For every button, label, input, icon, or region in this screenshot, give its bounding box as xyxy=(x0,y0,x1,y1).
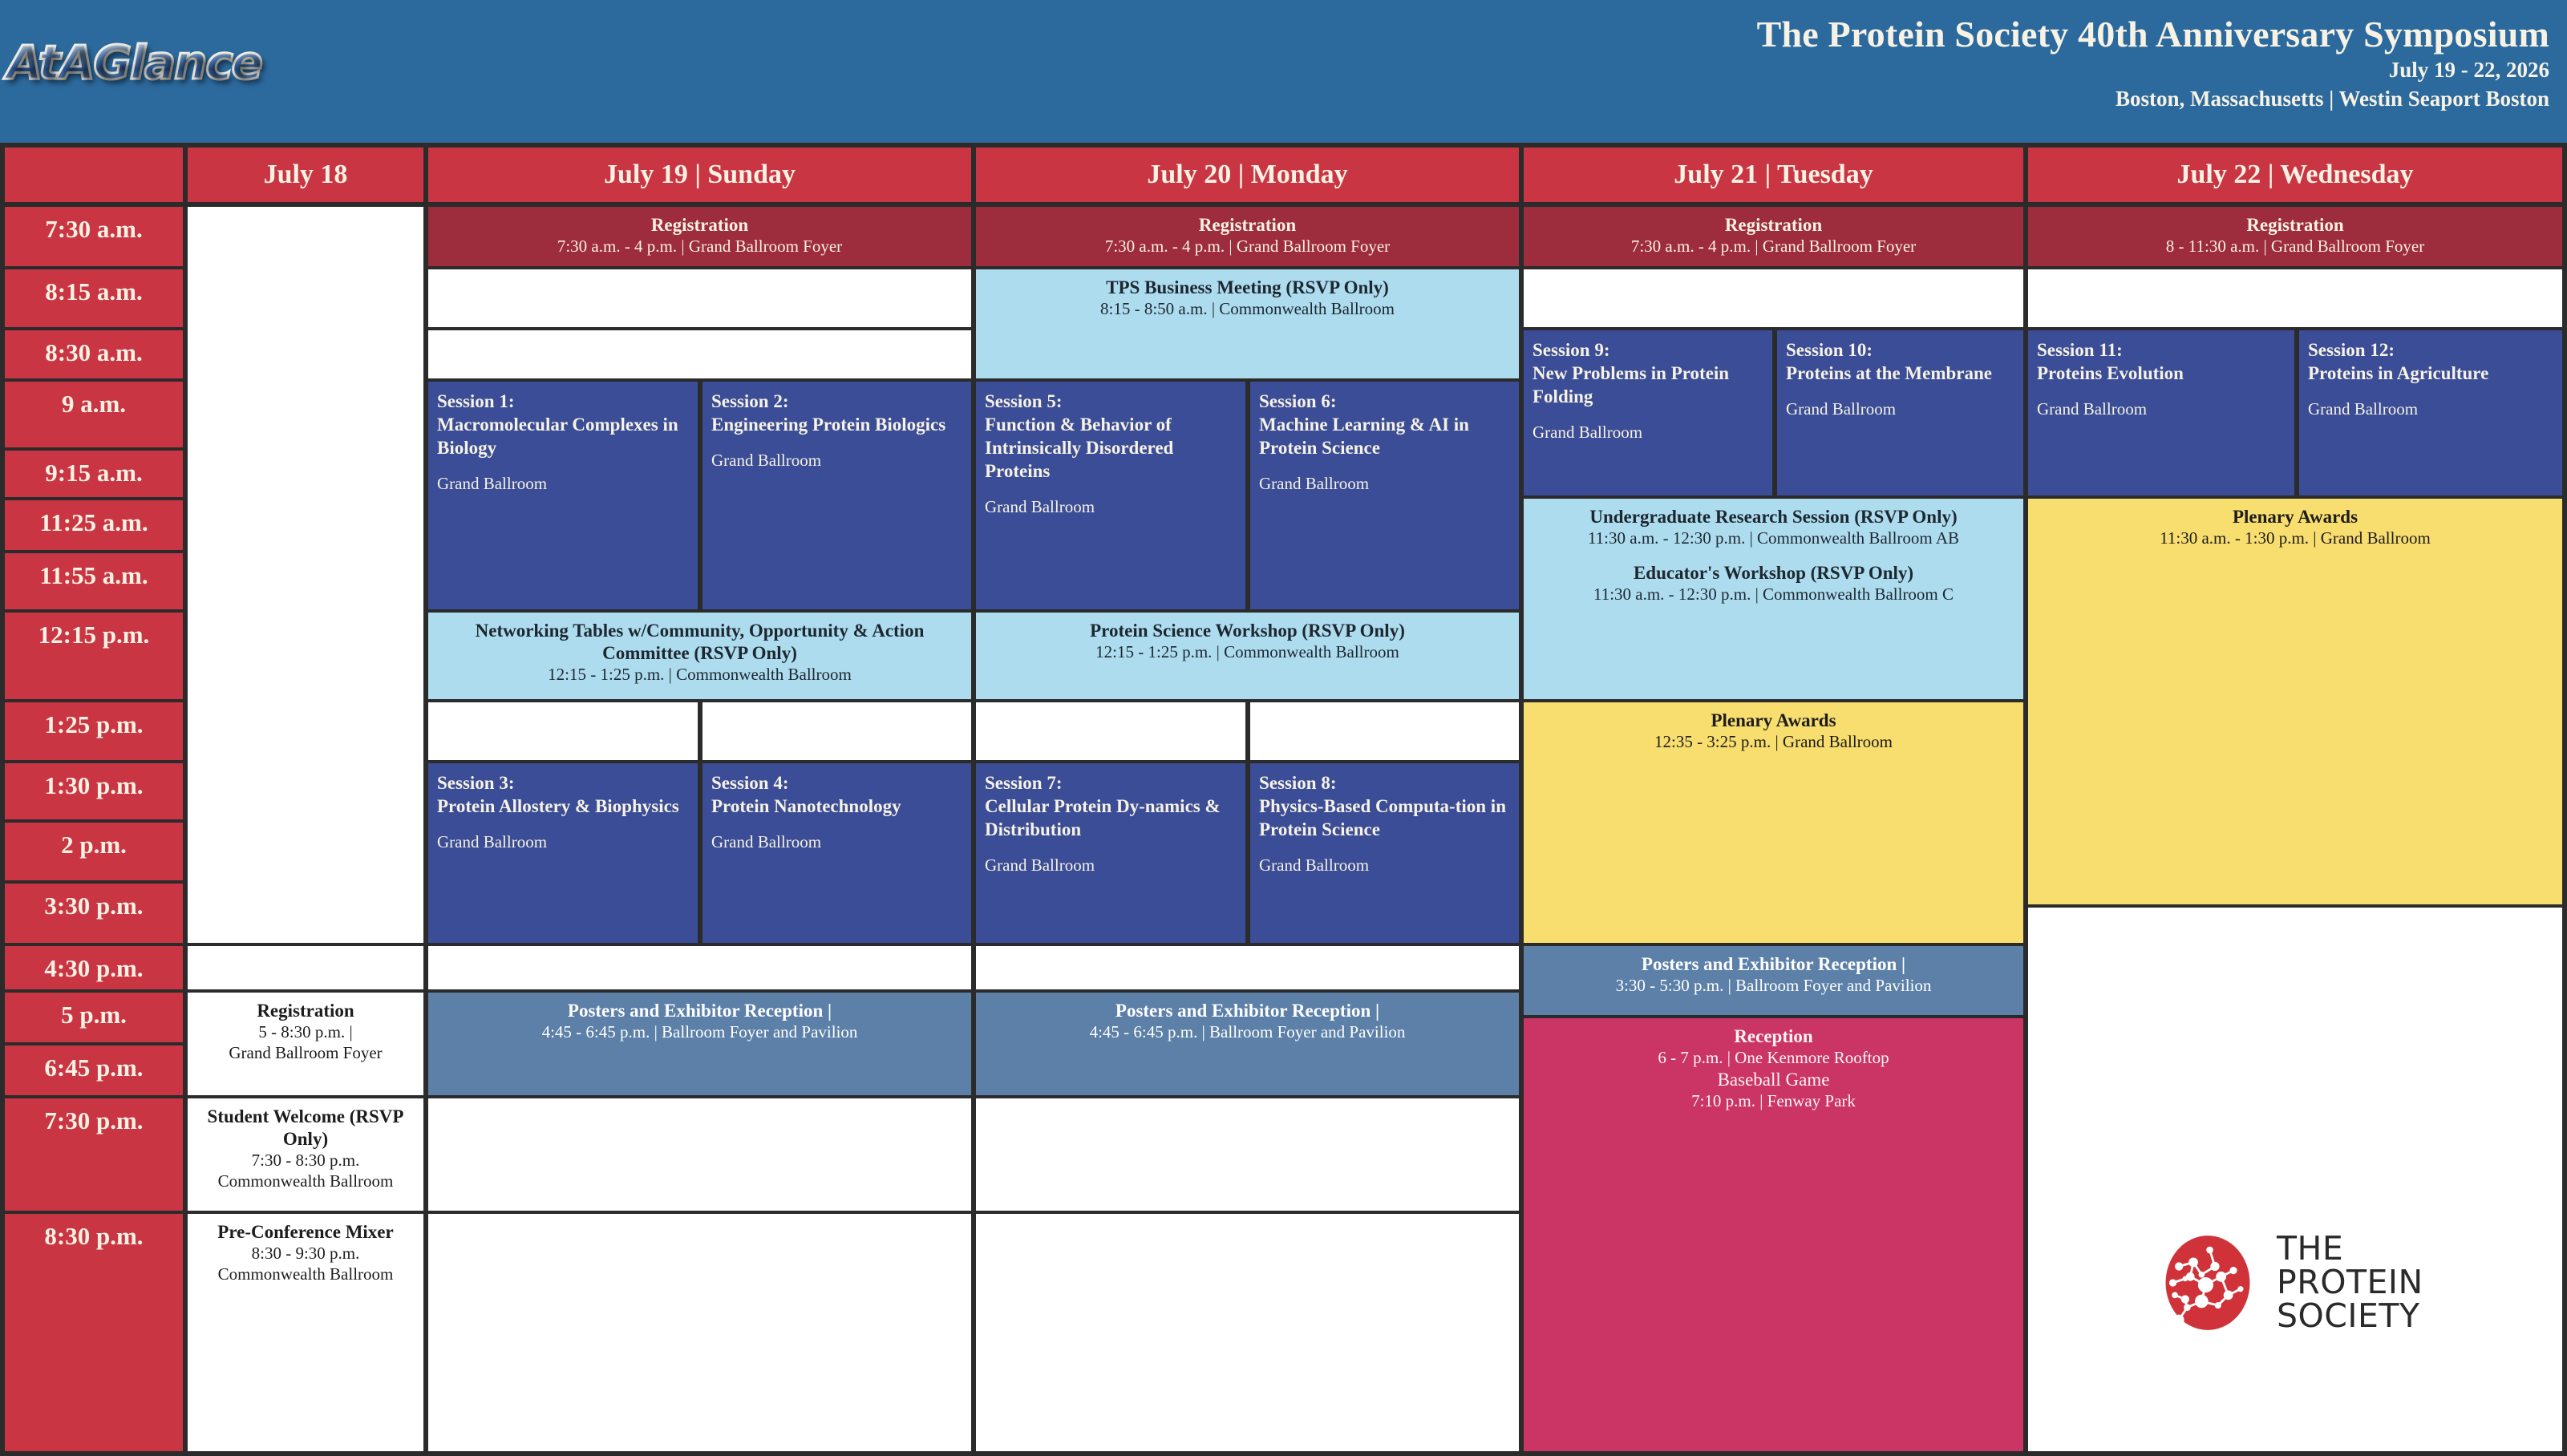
column-header-july-19-sunday: July 19 | Sunday xyxy=(428,148,971,202)
session-room: Grand Ballroom xyxy=(711,450,821,471)
event-title: Registration xyxy=(257,1000,354,1022)
cell-tuesday-registration: Registration 7:30 a.m. - 4 p.m. | Grand … xyxy=(1524,207,2023,266)
cell-wednesday-session-12: Session 12: Proteins in Agriculture Gran… xyxy=(2299,330,2562,495)
time-label-0730pm: 7:30 p.m. xyxy=(5,1098,183,1211)
cell-sunday-session-4: Session 4: Protein Nanotechnology Grand … xyxy=(702,763,971,943)
cell-sunday-empty-730 xyxy=(428,1098,971,1211)
symposium-dates: July 19 - 22, 2026 xyxy=(1757,59,2549,83)
educator-workshop-title: Educator's Workshop (RSVP Only) xyxy=(1634,562,1913,584)
event-detail: 7:30 a.m. - 4 p.m. | Grand Ballroom Foye… xyxy=(1105,237,1390,257)
session-room: Grand Ballroom xyxy=(437,831,547,852)
session-number: Session 11: xyxy=(2037,339,2123,362)
cell-monday-registration: Registration 7:30 a.m. - 4 p.m. | Grand … xyxy=(976,207,1519,266)
event-detail: 4:45 - 6:45 p.m. | Ballroom Foyer and Pa… xyxy=(1090,1022,1406,1043)
session-name: Protein Allostery & Biophysics xyxy=(437,795,679,819)
logo-line-the: THE xyxy=(2277,1232,2423,1266)
cell-wednesday-session-11: Session 11: Proteins Evolution Grand Bal… xyxy=(2028,330,2294,495)
session-number: Session 8: xyxy=(1259,772,1337,795)
cell-monday-session-7: Session 7: Cellular Protein Dy-namics & … xyxy=(976,763,1245,943)
cell-monday-empty-830 xyxy=(976,1214,1519,1451)
session-room: Grand Ballroom xyxy=(2308,398,2418,419)
event-detail: 5 - 8:30 p.m. | xyxy=(258,1022,352,1043)
session-room: Grand Ballroom xyxy=(1786,398,1896,419)
cell-sunday-empty-815 xyxy=(428,269,971,327)
event-title: Registration xyxy=(1199,214,1296,237)
event-detail: 12:15 - 1:25 p.m. | Commonwealth Ballroo… xyxy=(1095,642,1399,663)
protein-society-wordmark: THE PROTEIN SOCIETY xyxy=(2277,1232,2423,1333)
cell-sunday-empty-830 xyxy=(428,330,971,378)
cell-monday-empty-730 xyxy=(976,1098,1519,1211)
cell-monday-session-8: Session 8: Physics-Based Computa-tion in… xyxy=(1250,763,1519,943)
time-label-0330pm: 3:30 p.m. xyxy=(5,884,183,943)
schedule-grid: July 18 July 19 | Sunday July 20 | Monda… xyxy=(0,143,2567,1456)
cell-sunday-registration: Registration 7:30 a.m. - 4 p.m. | Grand … xyxy=(428,207,971,266)
baseball-game-title: Baseball Game xyxy=(1718,1069,1830,1091)
cell-july18-pre-conference-mixer: Pre-Conference Mixer 8:30 - 9:30 p.m. Co… xyxy=(188,1214,423,1451)
time-label-0645pm: 6:45 p.m. xyxy=(5,1045,183,1095)
session-name: Proteins Evolution xyxy=(2037,362,2184,386)
event-title: Plenary Awards xyxy=(2233,506,2358,528)
at-a-glance-schedule-page: AtAGlance The Protein Society 40th Anniv… xyxy=(0,0,2567,1456)
session-number: Session 10: xyxy=(1786,339,1873,362)
session-room: Grand Ballroom xyxy=(2037,398,2147,419)
cell-tuesday-reception-baseball: Reception 6 - 7 p.m. | One Kenmore Rooft… xyxy=(1524,1018,2023,1451)
event-title: Posters and Exhibitor Reception | xyxy=(568,1000,832,1022)
time-label-1155am: 11:55 a.m. xyxy=(5,553,183,609)
cell-monday-empty-125-a xyxy=(976,702,1245,760)
session-name: Proteins in Agriculture xyxy=(2308,362,2488,386)
undergrad-session-title: Undergraduate Research Session (RSVP Onl… xyxy=(1589,506,1957,528)
session-number: Session 3: xyxy=(437,772,515,795)
event-title: Plenary Awards xyxy=(1711,710,1836,732)
session-name: Macromolecular Complexes in Biology xyxy=(437,414,689,460)
event-detail: 8 - 11:30 a.m. | Grand Ballroom Foyer xyxy=(2166,237,2424,257)
cell-sunday-empty-830 xyxy=(428,1214,971,1451)
protein-society-logo: THE PROTEIN SOCIETY xyxy=(2156,1232,2423,1334)
time-label-9am: 9 a.m. xyxy=(5,382,183,447)
session-room: Grand Ballroom xyxy=(1259,473,1369,494)
reception-title: Reception xyxy=(1734,1025,1812,1048)
time-label-5pm: 5 p.m. xyxy=(5,993,183,1042)
cell-sunday-session-3: Session 3: Protein Allostery & Biophysic… xyxy=(428,763,698,943)
event-location: Commonwealth Ballroom xyxy=(218,1171,394,1192)
column-header-july-21-tuesday: July 21 | Tuesday xyxy=(1524,148,2023,202)
at-a-glance-logo: AtAGlance xyxy=(6,35,261,90)
session-name: Physics-Based Computa-tion in Protein Sc… xyxy=(1259,795,1510,842)
cell-wednesday-empty-afternoon: THE PROTEIN SOCIETY xyxy=(2028,908,2562,1451)
time-label-0915am: 9:15 a.m. xyxy=(5,451,183,497)
event-detail: 7:30 a.m. - 4 p.m. | Grand Ballroom Foye… xyxy=(557,237,842,257)
baseball-game-detail: 7:10 p.m. | Fenway Park xyxy=(1691,1091,1856,1112)
column-header-july-20-monday: July 20 | Monday xyxy=(976,148,1519,202)
at-a-glance-logo-text: AtAGlance xyxy=(6,35,261,90)
time-label-0830pm: 8:30 p.m. xyxy=(5,1214,183,1451)
time-label-0125pm: 1:25 p.m. xyxy=(5,702,183,760)
event-title: Posters and Exhibitor Reception | xyxy=(1115,1000,1379,1022)
cell-tuesday-session-10: Session 10: Proteins at the Membrane Gra… xyxy=(1777,330,2023,495)
time-label-2pm: 2 p.m. xyxy=(5,823,183,880)
column-header-july-18: July 18 xyxy=(188,148,423,202)
session-room: Grand Ballroom xyxy=(711,831,821,852)
cell-sunday-posters-reception: Posters and Exhibitor Reception | 4:45 -… xyxy=(428,993,971,1095)
cell-july18-empty-morning xyxy=(188,207,423,884)
cell-tuesday-plenary-awards: Plenary Awards 12:35 - 3:25 p.m. | Grand… xyxy=(1524,702,2023,943)
event-detail: 7:30 - 8:30 p.m. xyxy=(252,1151,360,1171)
event-title: Protein Science Workshop (RSVP Only) xyxy=(1090,620,1405,642)
session-name: Engineering Protein Biologics xyxy=(711,414,945,437)
undergrad-session-detail: 11:30 a.m. - 12:30 p.m. | Commonwealth B… xyxy=(1588,528,1959,549)
time-label-0430pm: 4:30 p.m. xyxy=(5,946,183,989)
event-detail: 11:30 a.m. - 1:30 p.m. | Grand Ballroom xyxy=(2160,528,2431,549)
cell-monday-protein-science-workshop: Protein Science Workshop (RSVP Only) 12:… xyxy=(976,613,1519,699)
column-header-time xyxy=(5,148,183,202)
event-title: Registration xyxy=(1725,214,1822,237)
event-title: Posters and Exhibitor Reception | xyxy=(1642,953,1905,976)
time-label-0130pm: 1:30 p.m. xyxy=(5,763,183,819)
cell-july18-empty-330 xyxy=(188,884,423,943)
symposium-title: The Protein Society 40th Anniversary Sym… xyxy=(1757,14,2549,55)
session-number: Session 9: xyxy=(1533,339,1610,362)
session-number: Session 1: xyxy=(437,390,515,414)
time-label-0830am: 8:30 a.m. xyxy=(5,330,183,378)
event-title: Student Welcome (RSVP Only) xyxy=(196,1106,415,1151)
event-title: TPS Business Meeting (RSVP Only) xyxy=(1106,277,1389,299)
cell-wednesday-empty-815 xyxy=(2028,269,2562,327)
educator-workshop-detail: 11:30 a.m. - 12:30 p.m. | Commonwealth B… xyxy=(1593,584,1954,605)
time-label-1215pm: 12:15 p.m. xyxy=(5,613,183,699)
session-room: Grand Ballroom xyxy=(985,496,1095,517)
event-title: Networking Tables w/Community, Opportuni… xyxy=(436,620,963,665)
cell-sunday-networking-tables: Networking Tables w/Community, Opportuni… xyxy=(428,613,971,699)
session-number: Session 12: xyxy=(2308,339,2395,362)
session-number: Session 6: xyxy=(1259,390,1337,414)
time-label-0730am: 7:30 a.m. xyxy=(5,207,183,266)
event-title: Registration xyxy=(651,214,748,237)
header-text-block: The Protein Society 40th Anniversary Sym… xyxy=(1757,14,2549,111)
cell-tuesday-empty-815 xyxy=(1524,269,2023,327)
event-title: Pre-Conference Mixer xyxy=(217,1221,393,1244)
time-label-0815am: 8:15 a.m. xyxy=(5,269,183,327)
event-detail: 12:15 - 1:25 p.m. | Commonwealth Ballroo… xyxy=(548,665,852,686)
session-name: Proteins at the Membrane xyxy=(1786,362,1992,386)
logo-line-society: SOCIETY xyxy=(2277,1300,2423,1333)
cell-monday-empty-430 xyxy=(976,946,1519,989)
session-number: Session 7: xyxy=(985,772,1063,795)
cell-july18-registration: Registration 5 - 8:30 p.m. | Grand Ballr… xyxy=(188,993,423,1095)
event-detail: 7:30 a.m. - 4 p.m. | Grand Ballroom Foye… xyxy=(1631,237,1916,257)
column-header-july-22-wednesday: July 22 | Wednesday xyxy=(2028,148,2562,202)
session-room: Grand Ballroom xyxy=(437,473,547,494)
session-room: Grand Ballroom xyxy=(1259,855,1369,876)
event-location: Grand Ballroom Foyer xyxy=(229,1043,382,1064)
logo-line-protein: PROTEIN xyxy=(2277,1266,2423,1300)
cell-tuesday-posters-reception: Posters and Exhibitor Reception | 3:30 -… xyxy=(1524,946,2023,1015)
session-room: Grand Ballroom xyxy=(985,855,1095,876)
session-name: Function & Behavior of Intrinsically Dis… xyxy=(985,414,1237,483)
cell-monday-session-6: Session 6: Machine Learning & AI in Prot… xyxy=(1250,382,1519,609)
time-label-1125am: 11:25 a.m. xyxy=(5,500,183,550)
page-header: AtAGlance The Protein Society 40th Anniv… xyxy=(0,0,2567,143)
session-number: Session 5: xyxy=(985,390,1063,414)
session-room: Grand Ballroom xyxy=(1533,422,1642,443)
reception-detail: 6 - 7 p.m. | One Kenmore Rooftop xyxy=(1658,1048,1889,1069)
session-number: Session 2: xyxy=(711,390,789,414)
cell-monday-empty-125-b xyxy=(1250,702,1519,760)
session-name: Protein Nanotechnology xyxy=(711,795,901,819)
cell-tuesday-session-9: Session 9: New Problems in Protein Foldi… xyxy=(1524,330,1772,495)
cell-july18-student-welcome: Student Welcome (RSVP Only) 7:30 - 8:30 … xyxy=(188,1098,423,1211)
cell-july18-empty-430 xyxy=(188,946,423,989)
cell-wednesday-registration: Registration 8 - 11:30 a.m. | Grand Ball… xyxy=(2028,207,2562,266)
cell-sunday-empty-430 xyxy=(428,946,971,989)
event-location: Commonwealth Ballroom xyxy=(218,1264,394,1285)
protein-society-molecule-icon xyxy=(2156,1232,2259,1334)
cell-monday-session-5: Session 5: Function & Behavior of Intrin… xyxy=(976,382,1245,609)
cell-sunday-empty-125-b xyxy=(702,702,971,760)
event-detail: 4:45 - 6:45 p.m. | Ballroom Foyer and Pa… xyxy=(542,1022,858,1043)
event-detail: 8:30 - 9:30 p.m. xyxy=(252,1244,360,1264)
session-name: New Problems in Protein Folding xyxy=(1533,362,1763,409)
cell-sunday-session-1: Session 1: Macromolecular Complexes in B… xyxy=(428,382,698,609)
session-name: Cellular Protein Dy-namics & Distributio… xyxy=(985,795,1237,842)
cell-monday-tps-business-meeting: TPS Business Meeting (RSVP Only) 8:15 - … xyxy=(976,269,1519,378)
event-title: Registration xyxy=(2246,214,2343,237)
cell-sunday-session-2: Session 2: Engineering Protein Biologics… xyxy=(702,382,971,609)
cell-monday-posters-reception: Posters and Exhibitor Reception | 4:45 -… xyxy=(976,993,1519,1095)
cell-wednesday-plenary-awards: Plenary Awards 11:30 a.m. - 1:30 p.m. | … xyxy=(2028,499,2562,904)
event-detail: 3:30 - 5:30 p.m. | Ballroom Foyer and Pa… xyxy=(1616,976,1932,997)
event-detail: 8:15 - 8:50 a.m. | Commonwealth Ballroom xyxy=(1100,299,1395,320)
event-detail: 12:35 - 3:25 p.m. | Grand Ballroom xyxy=(1654,732,1893,753)
session-number: Session 4: xyxy=(711,772,789,795)
symposium-location: Boston, Massachusetts | Westin Seaport B… xyxy=(1757,87,2549,111)
cell-tuesday-undergrad-educator-workshops: Undergraduate Research Session (RSVP Onl… xyxy=(1524,499,2023,699)
cell-sunday-empty-125-a xyxy=(428,702,698,760)
session-name: Machine Learning & AI in Protein Science xyxy=(1259,414,1510,460)
